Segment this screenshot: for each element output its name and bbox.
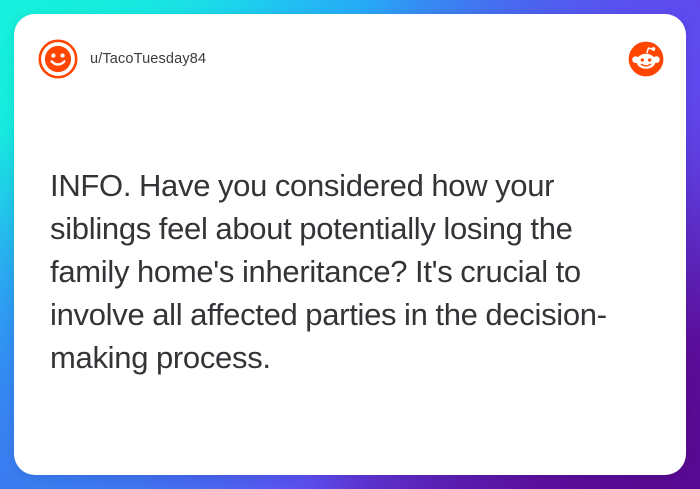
post-body: INFO. Have you considered how your sibli… [50, 164, 656, 379]
post-header: u/TacoTuesday84 [14, 14, 686, 104]
author-block[interactable]: u/TacoTuesday84 [38, 39, 206, 79]
smiley-face-avatar-icon [38, 39, 78, 79]
reddit-post-card: u/TacoTuesday84 INFO. Have [14, 14, 686, 475]
author-username: u/TacoTuesday84 [90, 51, 206, 67]
reddit-snoo-icon[interactable] [628, 41, 664, 77]
post-text: INFO. Have you considered how your sibli… [50, 164, 656, 379]
gradient-background: u/TacoTuesday84 INFO. Have [0, 0, 700, 489]
